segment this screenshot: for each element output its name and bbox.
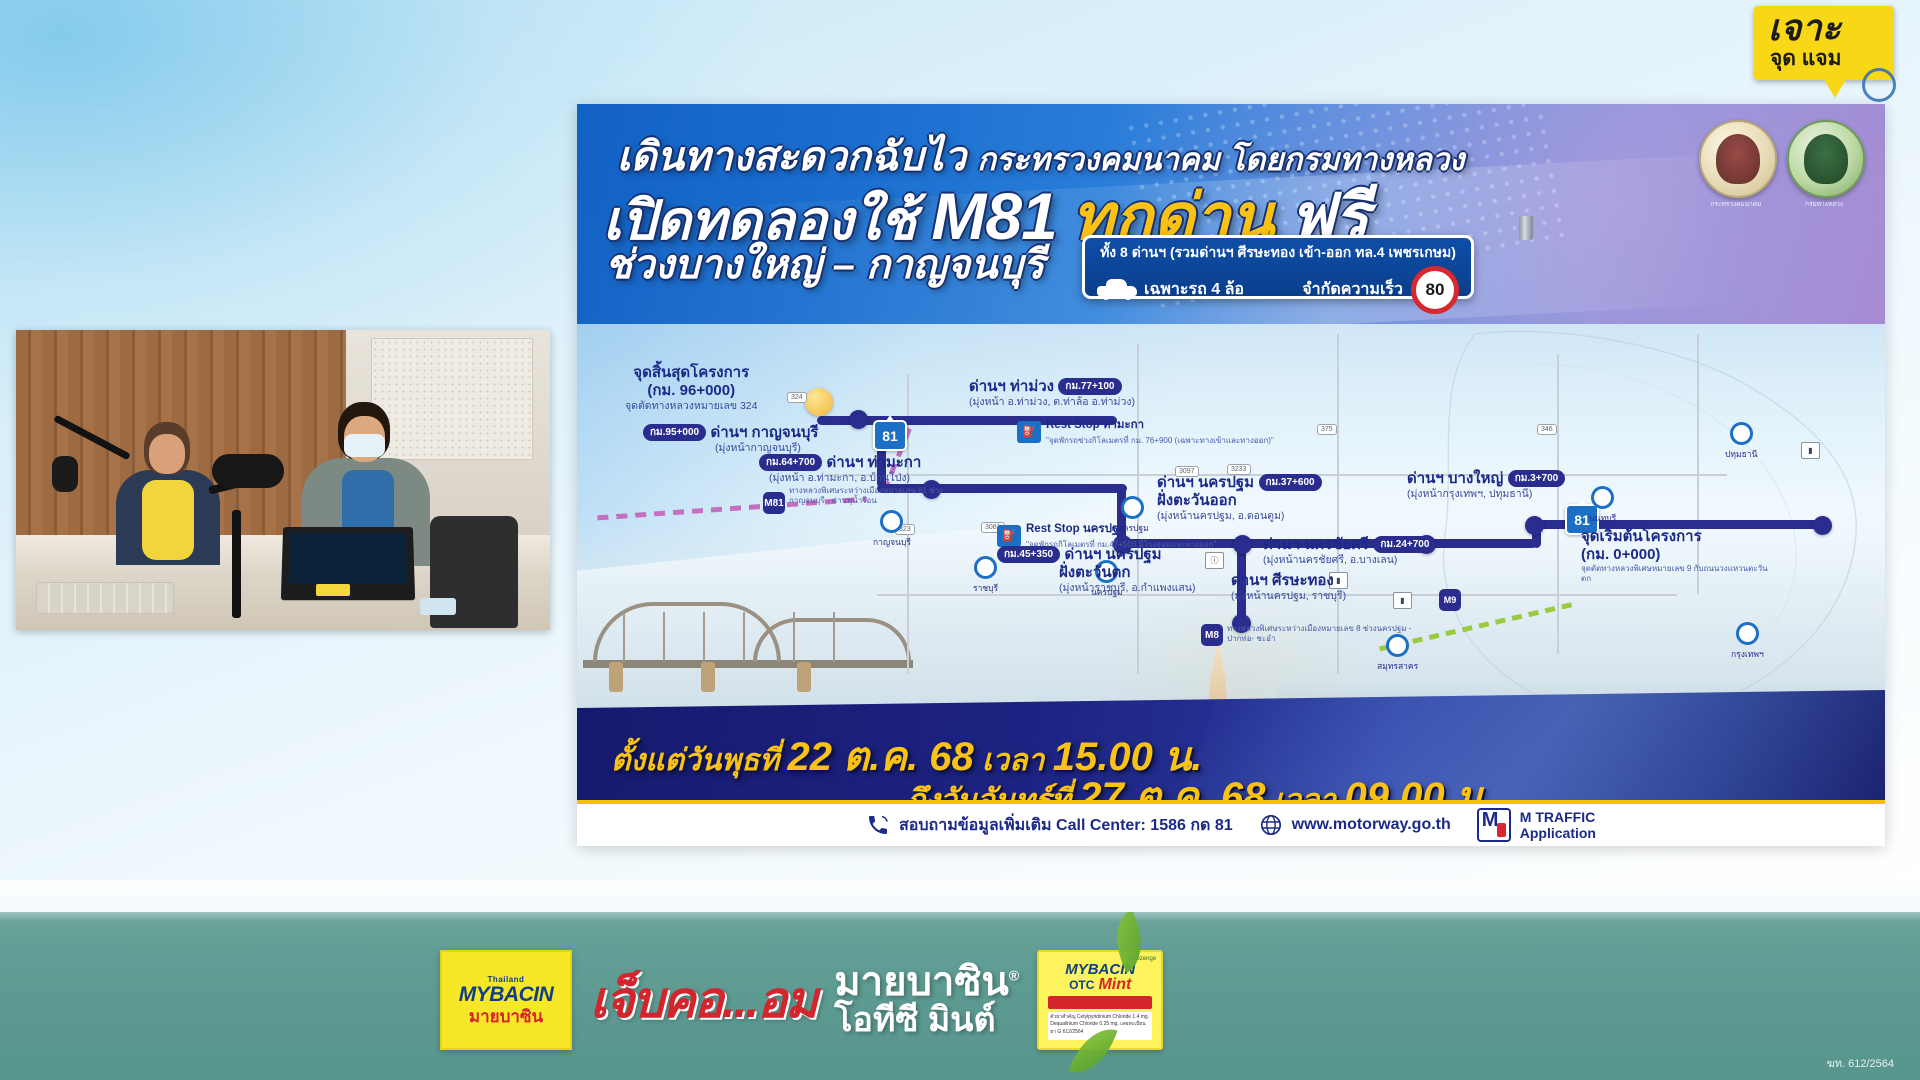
highways-seal-caption: กรมทางหลวง (1787, 201, 1861, 209)
label-m8-note: ทางหลวงพิเศษระหว่างเมืองหมายเลข 8 ช่วงนค… (1227, 624, 1437, 645)
keyboard (36, 582, 174, 614)
call-center-info: สอบถามข้อมูลเพิ่มเติม Call Center: 1586 … (866, 813, 1233, 838)
sign-post (1519, 216, 1533, 240)
highways-seal-icon (1787, 120, 1865, 198)
km-badge: กม.24+700 (1373, 536, 1436, 553)
channel-watermark: เจาะ จุด แจม (1742, 6, 1902, 110)
ministry-seal-icon (1699, 120, 1777, 198)
label-thamaka-toll: กม.64+700 ด่านฯ ท่ามะกา (มุ่งหน้า อ.ท่าม… (759, 454, 921, 485)
label-bangyai-toll: ด่านฯ บางใหญ่ กม.3+700 (มุ่งหน้ากรุงเทพฯ… (1407, 470, 1565, 501)
route-map: 81 81 M81 M8 M9 324 323 3081 375 346 323… (577, 324, 1885, 734)
mybacin-thai: มายบาซิน (469, 1008, 543, 1025)
call-center-text: สอบถามข้อมูลเพิ่มเติม Call Center: 1586 … (899, 813, 1233, 838)
sponsor-content: Thailand MYBACIN มายบาซิน เจ็บคอ...อม มา… (440, 920, 1500, 1080)
date-band: ตั้งแต่วันพุธที่ 22 ต.ค. 68 เวลา 15.00 น… (577, 690, 1885, 812)
website-info[interactable]: www.motorway.go.th (1259, 813, 1451, 837)
microphone-center (212, 454, 284, 488)
watermark-circle-icon (1862, 68, 1896, 102)
watermark-line-1: เจาะ (1768, 10, 1841, 46)
city-pathumthani: ปทุมธานี (1725, 422, 1757, 461)
ministry-seal: กระทรวงคมนาคม (1699, 120, 1773, 209)
highways-seal: กรมทางหลวง (1787, 120, 1861, 209)
route-node (1525, 516, 1544, 535)
info-sign-line-1: ทั้ง 8 ด่านฯ (รวมด่านฯ ศีรษะทอง เข้า-ออก… (1097, 244, 1459, 262)
label-nakhonchaisi-toll: ด่านฯ นครชัยศรี กม.24+700 (มุ่งหน้านครชั… (1263, 536, 1436, 567)
rest-stop-icon: ⛽ (997, 525, 1021, 547)
route-node (849, 410, 868, 429)
app-info[interactable]: M TRAFFIC Application (1477, 808, 1596, 842)
motorway-announcement-poster: เดินทางสะดวกฉับไว กระทรวงคมนาคม โดยกรมทา… (577, 104, 1885, 846)
info-road-sign: ทั้ง 8 ด่านฯ (รวมด่านฯ ศีรษะทอง เข้า-ออก… (1082, 235, 1474, 299)
project-end-node (805, 388, 833, 416)
route-number-375: 375 (1317, 424, 1337, 435)
label-nakhonpathom-east-toll: ด่านฯ นครปฐม กม.37+600 ฝั่งตะวันออก (มุ่… (1157, 474, 1322, 523)
vehicle-restriction-text: เฉพาะรถ 4 ล้อ (1144, 277, 1244, 302)
city-kanchanaburi: กาญจนบุรี (873, 510, 911, 549)
label-project-end: จุดสิ้นสุดโครงการ (กม. 96+000) จุดตัดทาง… (625, 364, 757, 413)
package-mint: Mint (1098, 977, 1131, 993)
rest-stop-icon: ⛽ (1017, 421, 1041, 443)
ministry-seal-caption: กระทรวงคมนาคม (1699, 201, 1773, 209)
speed-restriction: จำกัดความเร็ว 80 (1302, 266, 1459, 314)
km-badge: กม.95+000 (643, 424, 706, 441)
product-line-2: โอทีซี มินต์ (834, 1003, 1019, 1038)
host-1-face (149, 434, 185, 474)
label-sisathong-toll: ด่านฯ ศีรษะทอง (มุ่งหน้านครปฐม, ราชบุรี) (1231, 572, 1346, 603)
car-icon (1097, 279, 1137, 300)
host-1-shirt (142, 480, 194, 560)
km-badge: กม.64+700 (759, 454, 822, 471)
screen: เดินทางสะดวกฉับไว กระทรวงคมนาคม โดยกรมทา… (0, 0, 1920, 1080)
laptop-sticker (316, 584, 350, 596)
city-bangkok: กรุงเทพฯ (1731, 622, 1764, 661)
label-m81-note: ทางหลวงพิเศษระหว่างเมืองหมายเลข 81 ช่วงก… (789, 486, 969, 507)
km-badge: กม.45+350 (997, 546, 1060, 563)
registration-number: ฆท. 612/2564 (1827, 1054, 1894, 1072)
product-line-1: มายบาซิน® (834, 962, 1019, 1003)
mybacin-name: MYBACIN (459, 984, 554, 1005)
poi-marker: ▮ (1393, 592, 1412, 609)
label-thamuang-toll: ด่านฯ ท่าม่วง กม.77+100 (มุ่งหน้า อ.ท่าม… (969, 378, 1135, 409)
watermark-pointer (1822, 76, 1848, 98)
secondary-road (1337, 334, 1339, 674)
m81-badge: M81 (763, 492, 785, 514)
package-otc: OTC (1069, 978, 1094, 992)
m8-badge: M8 (1201, 624, 1223, 646)
poster-footer: สอบถามข้อมูลเพิ่มเติม Call Center: 1586 … (577, 800, 1885, 846)
sponsor-product-name: มายบาซิน® โอทีซี มินต์ (834, 962, 1019, 1037)
speed-limit-icon: 80 (1411, 266, 1459, 314)
mybacin-logo-box: Thailand MYBACIN มายบาซิน (440, 950, 572, 1050)
km-badge: กม.3+700 (1508, 470, 1566, 487)
acoustic-panel (371, 338, 533, 460)
broadcast-studio-video[interactable] (16, 330, 550, 630)
globe-icon (1259, 813, 1283, 837)
m9-badge: M9 (1439, 589, 1461, 611)
km-badge: กม.37+600 (1259, 474, 1322, 491)
label-kanchanaburi-toll: กม.95+000 ด่านฯ กาญจนบุรี (มุ่งหน้ากาญจน… (643, 424, 818, 455)
agency-seals: กระทรวงคมนาคม กรมทางหลวง (1699, 120, 1861, 209)
route-number-324: 324 (787, 392, 807, 403)
project-start-node (1813, 516, 1832, 535)
poi-marker: ▮ (1801, 442, 1820, 459)
sponsor-band: Thailand MYBACIN มายบาซิน เจ็บคอ...อม มา… (0, 912, 1920, 1080)
route-shield-81: 81 (873, 420, 907, 451)
sponsor-slogan: เจ็บคอ...อม (590, 961, 816, 1040)
info-sign-row: เฉพาะรถ 4 ล้อ จำกัดความเร็ว 80 (1097, 266, 1459, 314)
label-project-start: จุดเริ่มต้นโครงการ (กม. 0+000) จุดตัดทาง… (1581, 528, 1771, 585)
city-nonthaburi: นนทบุรี (1589, 486, 1616, 525)
date-1-prefix: ตั้งแต่วันพุธที่ (611, 744, 779, 777)
microphone-left (52, 456, 78, 492)
poi-marker: ⓘ (1205, 552, 1224, 569)
website-text: www.motorway.go.th (1292, 816, 1451, 834)
headline-line-3: ช่วงบางใหญ่ – กาญจนบุรี (605, 232, 1044, 296)
vehicle-restriction: เฉพาะรถ 4 ล้อ (1097, 277, 1244, 302)
package-red-strip (1048, 996, 1152, 1009)
speed-limit-label: จำกัดความเร็ว (1302, 277, 1403, 302)
host-2-face-mask (344, 434, 385, 457)
km-badge: กม.77+100 (1058, 378, 1121, 395)
route-number-346: 346 (1537, 424, 1557, 435)
microphone-pole (232, 510, 241, 618)
app-name: M TRAFFIC Application (1520, 809, 1596, 841)
phone-icon (866, 813, 890, 837)
mobile-phone (420, 598, 456, 615)
label-thamaka-reststop: ⛽ Rest Stop ท่ามะกา "จุดพักรถช่วงกิโลเมต… (1017, 416, 1276, 447)
m-traffic-logo (1477, 808, 1511, 842)
label-nakhonpathom-west-toll: กม.45+350 ด่านฯ นครปฐม ฝั่งตะวันตก (มุ่ง… (997, 546, 1196, 595)
river-kwai-bridge (583, 584, 913, 692)
watermark-line-2: จุด แจม (1770, 48, 1841, 69)
city-ratchaburi: ราชบุรี (973, 556, 998, 595)
